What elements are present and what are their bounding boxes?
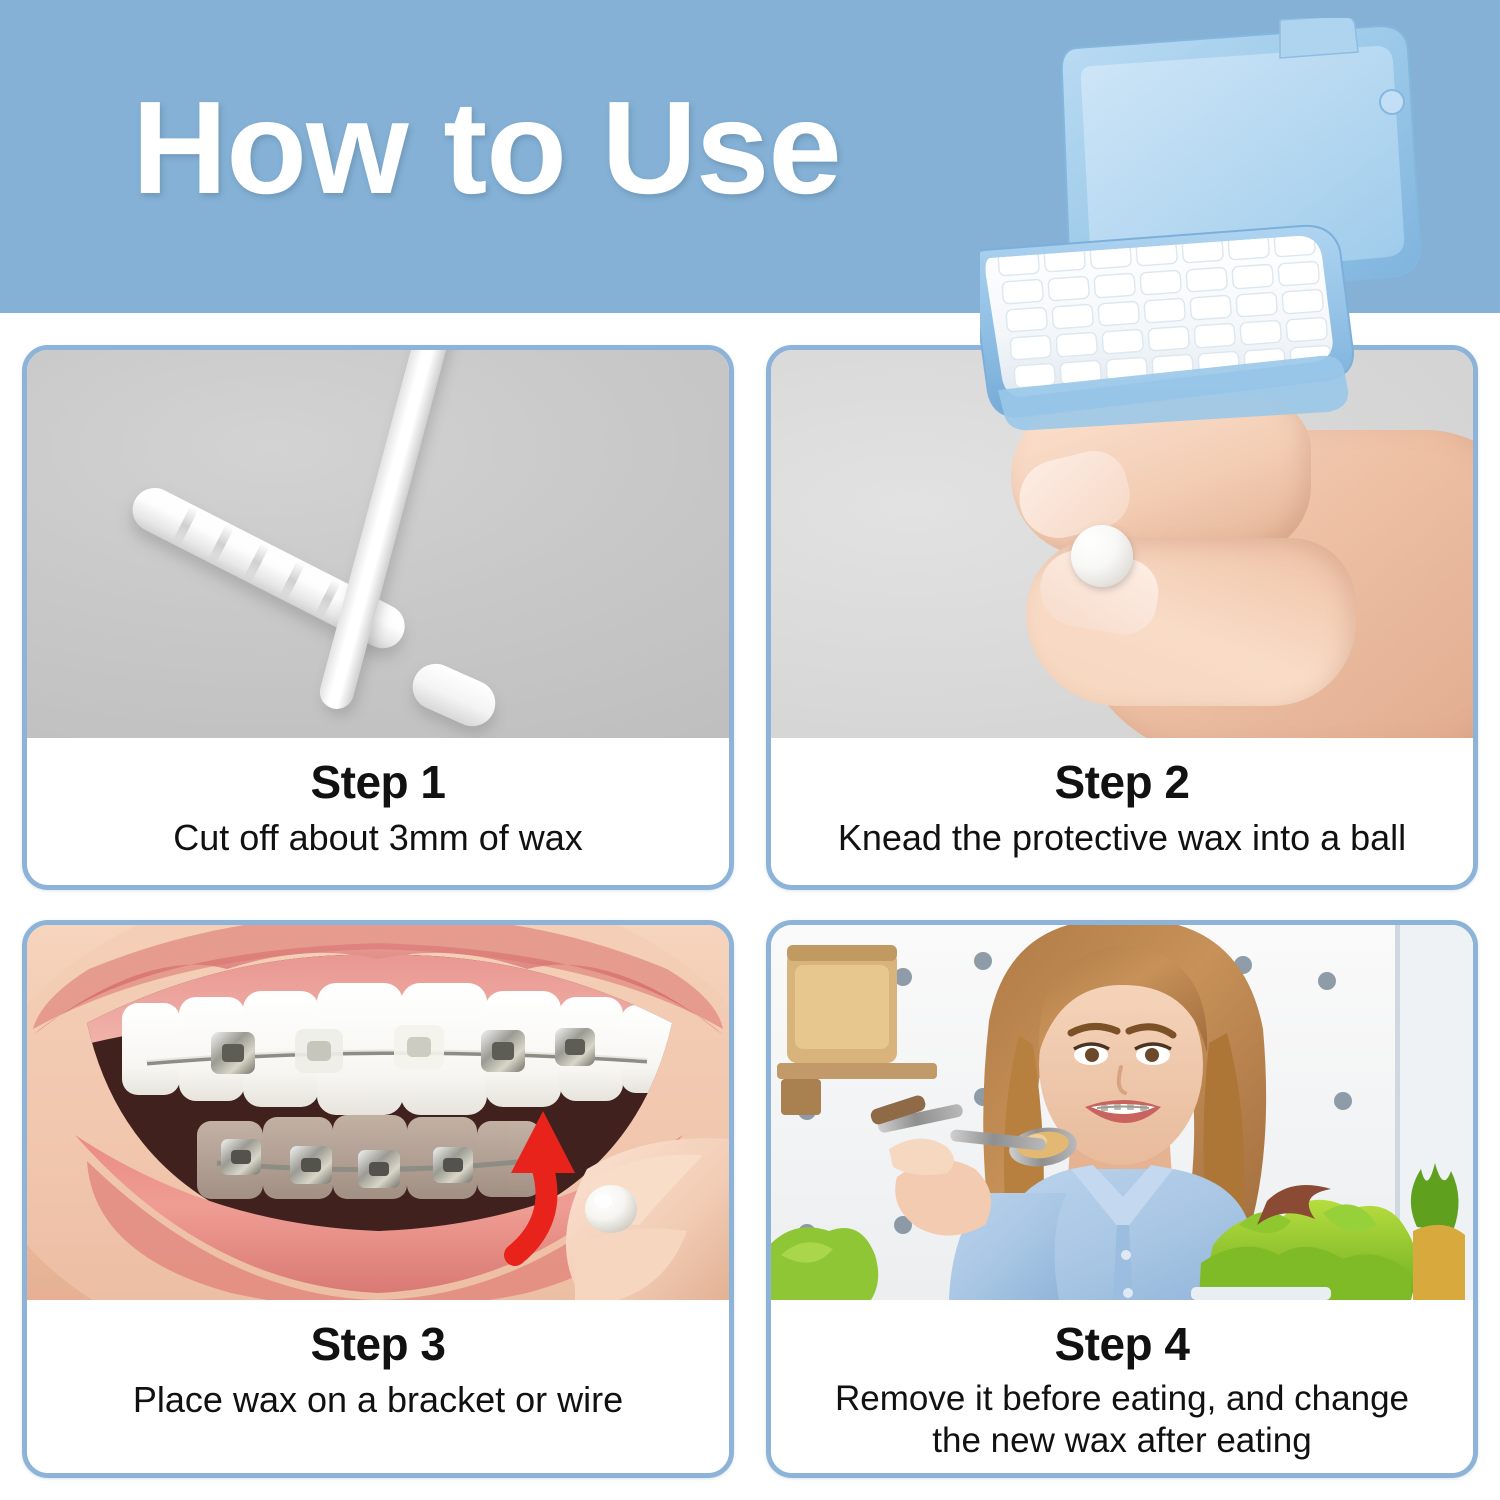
header-bar: How to Use xyxy=(0,0,1500,313)
step-card-4[interactable]: Step 4 Remove it before eating, and chan… xyxy=(766,920,1478,1478)
braces-mouth-illustration xyxy=(27,925,729,1300)
step-2-description: Knead the protective wax into a ball xyxy=(771,816,1473,859)
step-3-description: Place wax on a bracket or wire xyxy=(27,1378,729,1421)
step-1-caption: Step 1 Cut off about 3mm of wax xyxy=(27,738,729,890)
wax-ball-icon xyxy=(1071,525,1133,587)
step-3-photo xyxy=(27,925,729,1300)
step-4-description-line-2: the new wax after eating xyxy=(932,1421,1311,1460)
step-4-description-line-1: Remove it before eating, and change xyxy=(835,1379,1409,1418)
step-card-1[interactable]: Step 1 Cut off about 3mm of wax xyxy=(22,345,734,890)
step-2-photo xyxy=(771,350,1473,738)
step-1-photo xyxy=(27,350,729,738)
step-4-caption: Step 4 Remove it before eating, and chan… xyxy=(771,1300,1473,1478)
step-1-title: Step 1 xyxy=(27,758,729,806)
step-4-photo xyxy=(771,925,1473,1300)
step-1-description: Cut off about 3mm of wax xyxy=(27,816,729,859)
index-finger-icon xyxy=(1011,398,1311,556)
step-2-title: Step 2 xyxy=(771,758,1473,806)
step-3-caption: Step 3 Place wax on a bracket or wire xyxy=(27,1300,729,1478)
header-separator xyxy=(0,313,1500,345)
step-4-description: Remove it before eating, and change the … xyxy=(771,1378,1473,1461)
step-card-3[interactable]: Step 3 Place wax on a bracket or wire xyxy=(22,920,734,1478)
infographic-page: How to Use Step 1 Cut off about 3mm of w… xyxy=(0,0,1500,1500)
page-title: How to Use xyxy=(132,82,841,214)
step-card-2[interactable]: Step 2 Knead the protective wax into a b… xyxy=(766,345,1478,890)
woman-eating-illustration xyxy=(771,925,1473,1300)
step-2-caption: Step 2 Knead the protective wax into a b… xyxy=(771,738,1473,890)
step-4-title: Step 4 xyxy=(771,1320,1473,1368)
step-3-title: Step 3 xyxy=(27,1320,729,1368)
